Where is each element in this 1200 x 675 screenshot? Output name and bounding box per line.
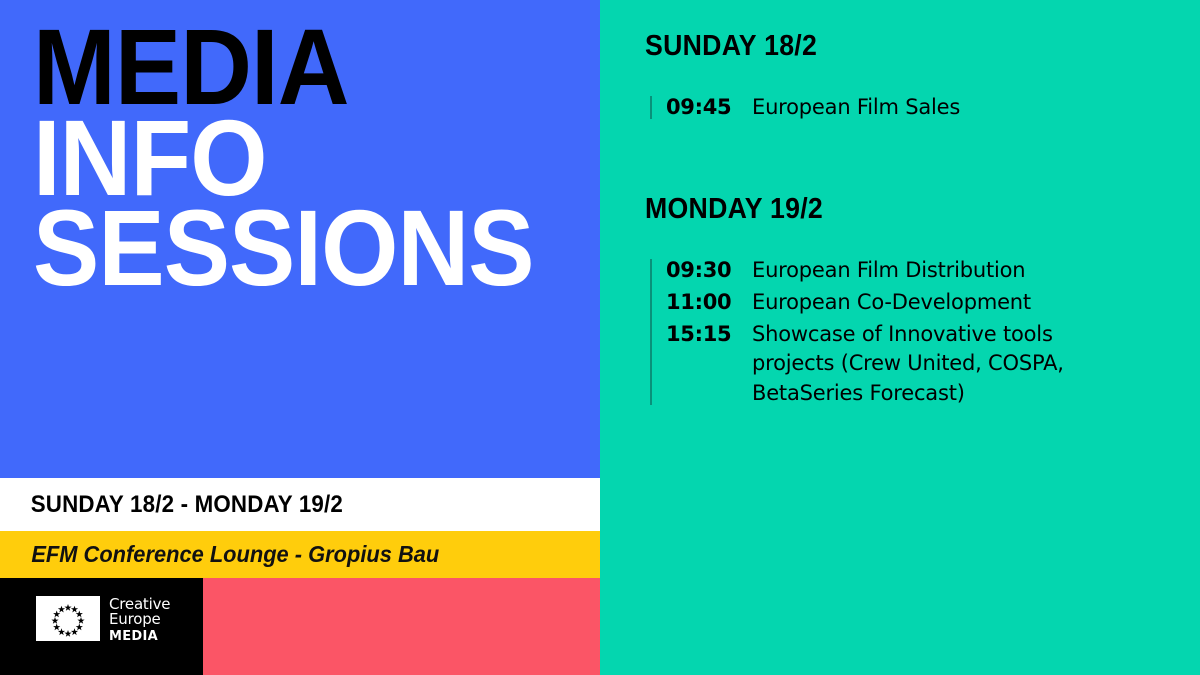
day-heading-sunday: SUNDAY 18/2	[645, 30, 1156, 63]
session-time: 11:00	[666, 288, 752, 318]
session-row[interactable]: 15:15 Showcase of Innovative tools proje…	[666, 320, 1200, 409]
day-group-monday: MONDAY 19/2 09:30 European Film Distribu…	[600, 193, 1200, 411]
page-title: MEDIA INFO SESSIONS	[33, 22, 593, 294]
session-list-monday: 09:30 European Film Distribution 11:00 E…	[650, 256, 1200, 409]
session-time: 09:45	[666, 93, 752, 123]
session-time: 15:15	[666, 320, 752, 350]
session-title: European Film Sales	[752, 93, 960, 123]
left-title-panel: MEDIA INFO SESSIONS	[0, 0, 600, 478]
session-title: Showcase of Innovative tools projects (C…	[752, 320, 1082, 409]
session-time: 09:30	[666, 256, 752, 286]
date-bar-label: SUNDAY 18/2 - MONDAY 19/2	[0, 491, 343, 519]
date-bar: SUNDAY 18/2 - MONDAY 19/2	[0, 478, 600, 531]
day-group-sunday: SUNDAY 18/2 09:45 European Film Sales	[600, 30, 1200, 125]
day-heading-monday: MONDAY 19/2	[645, 193, 1156, 226]
session-title: European Film Distribution	[752, 256, 1025, 286]
session-title: European Co-Development	[752, 288, 1031, 318]
logo-line-media: MEDIA	[109, 630, 170, 643]
session-list-sunday: 09:45 European Film Sales	[650, 93, 1200, 123]
schedule-panel: SUNDAY 18/2 09:45 European Film Sales MO…	[600, 0, 1200, 675]
media-info-sessions-poster: MEDIA INFO SESSIONS SUNDAY 18/2 - MONDAY…	[0, 0, 1200, 675]
venue-bar: EFM Conference Lounge - Gropius Bau	[0, 531, 600, 578]
logo-line-europe: Europe	[109, 612, 170, 627]
session-row[interactable]: 11:00 European Co-Development	[666, 288, 1200, 318]
title-line-3: SESSIONS	[33, 203, 548, 294]
creative-europe-logo: Creative Europe MEDIA	[0, 578, 203, 675]
venue-bar-label: EFM Conference Lounge - Gropius Bau	[0, 541, 439, 568]
session-row[interactable]: 09:45 European Film Sales	[666, 93, 1200, 123]
session-row[interactable]: 09:30 European Film Distribution	[666, 256, 1200, 286]
eu-stars-icon	[36, 596, 100, 641]
